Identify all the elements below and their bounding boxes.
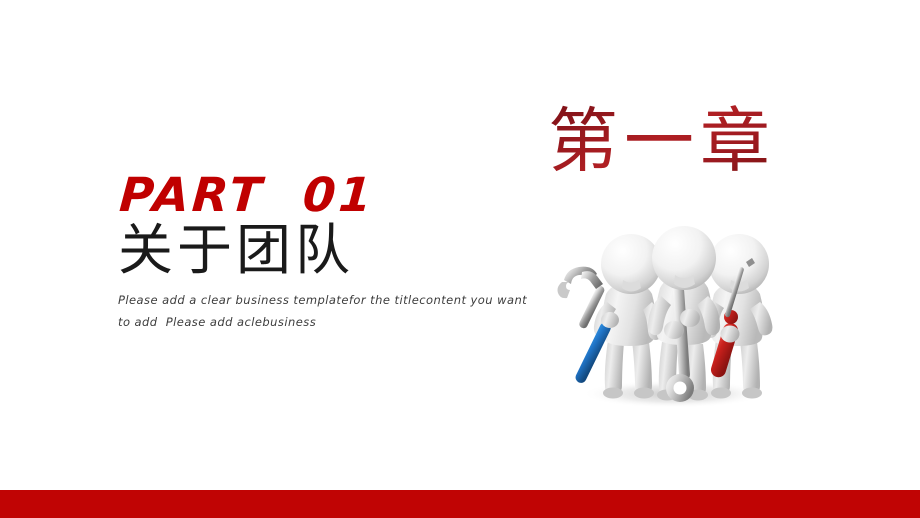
chapter-heading: 第一章: [548, 102, 776, 180]
three-figures-illustration: [552, 222, 792, 418]
bottom-accent-bar: [0, 490, 920, 518]
left-text-block: PART 01 关于团队 Please add a clear business…: [118, 172, 538, 333]
slide-canvas: PART 01 关于团队 Please add a clear business…: [0, 0, 920, 518]
figure-center-with-wrench: [648, 226, 720, 402]
part-number-label: PART 01: [118, 172, 541, 219]
body-paragraph: Please add a clear business templatefor …: [118, 290, 530, 333]
figure-left-with-hammer: [558, 234, 664, 399]
page-title: 关于团队: [118, 221, 538, 280]
